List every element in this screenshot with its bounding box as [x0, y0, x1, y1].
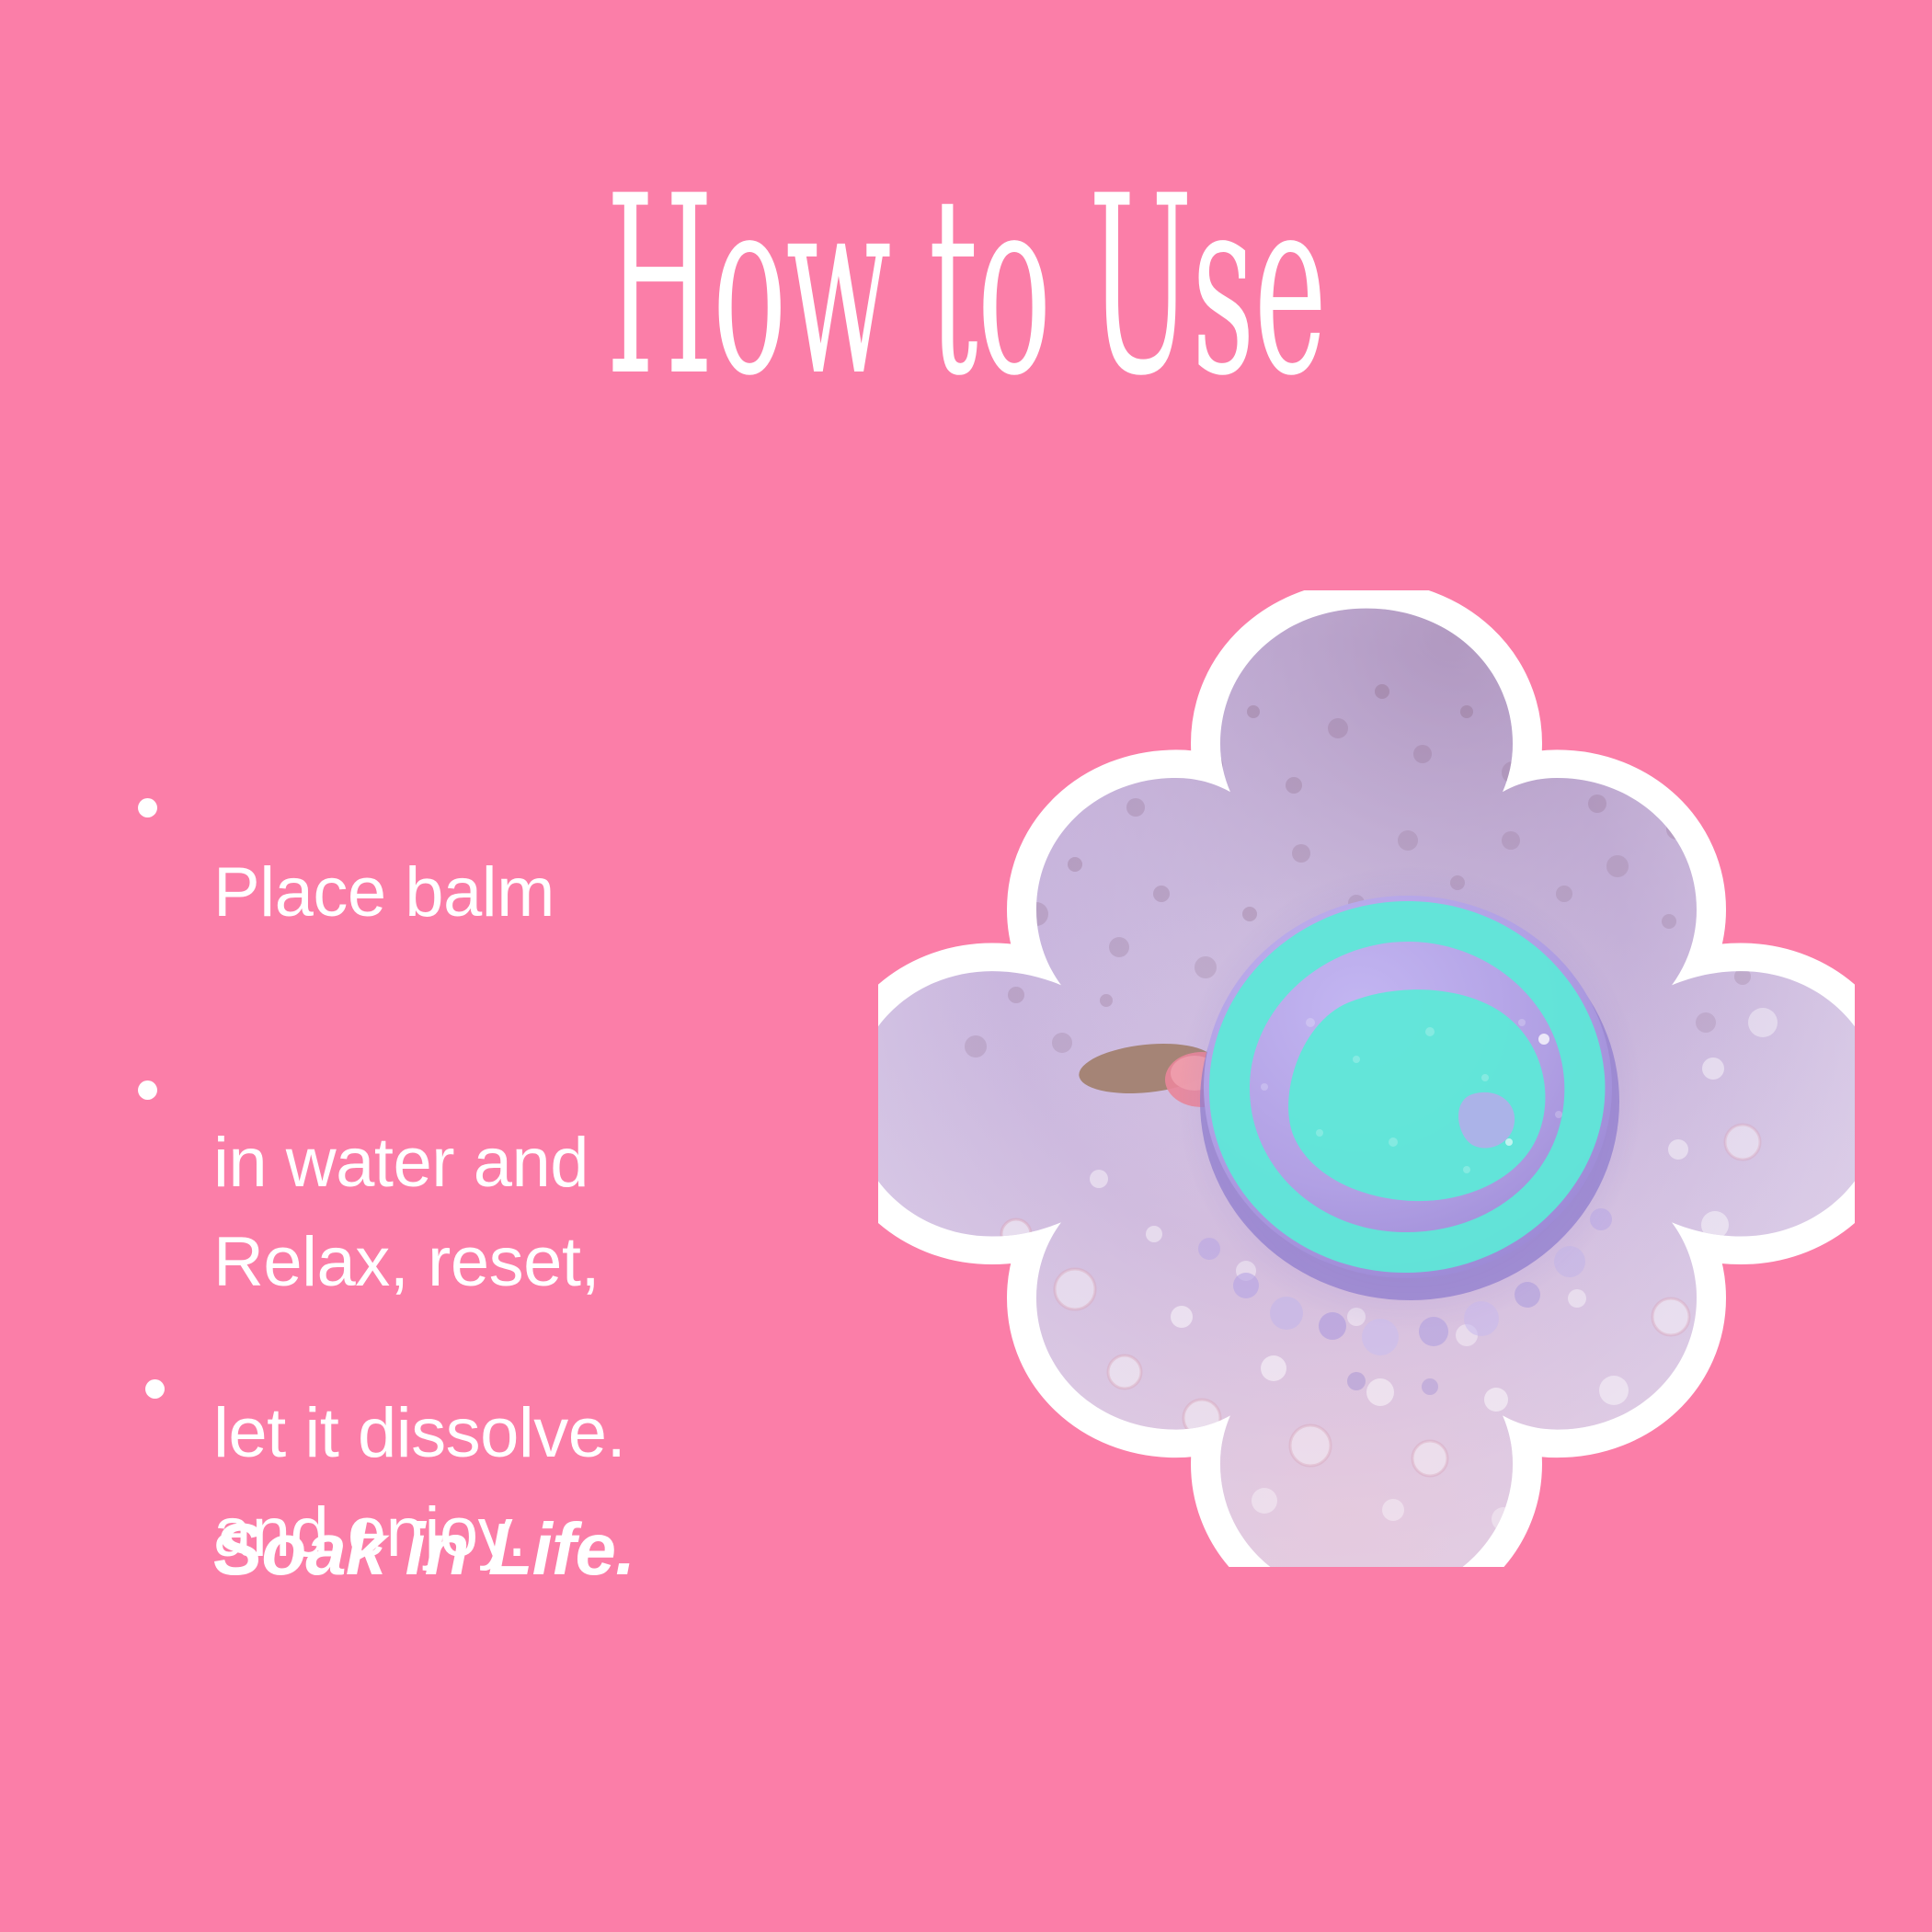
step-2-line-1: Relax, reset,: [213, 1218, 600, 1308]
step-3-line-1: Soak in Life.: [213, 1504, 634, 1595]
bullet-dot-icon: [138, 1080, 157, 1100]
photo-clipped-content: [878, 590, 1855, 1567]
bath-bomb: [1200, 896, 1619, 1300]
step-3-text: Soak in Life.: [213, 1324, 634, 1775]
page-title: How to Use: [483, 164, 1449, 410]
poster-canvas: How to Use Place balm in water and let i…: [0, 0, 1932, 1932]
bullet-dot-icon: [145, 1379, 165, 1399]
bullet-dot-icon: [138, 798, 157, 817]
step-1-line-1: Place balm: [213, 848, 625, 938]
product-photo-flower-frame: [878, 590, 1855, 1567]
product-photo: [878, 590, 1855, 1567]
